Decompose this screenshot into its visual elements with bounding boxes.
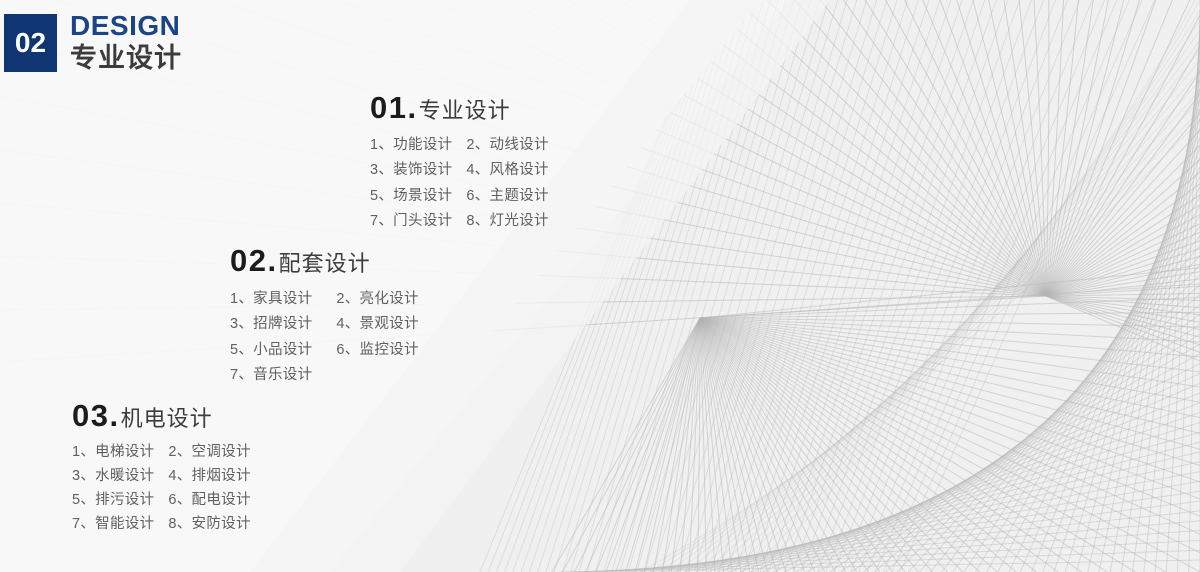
- section-number: 03.: [72, 400, 120, 431]
- list-item: 8、安防设计: [168, 517, 250, 533]
- list-item: 4、景观设计: [336, 317, 418, 333]
- section-name: 配套设计: [279, 253, 371, 275]
- list-item: 6、监控设计: [336, 343, 418, 359]
- list-item: 3、水暖设计: [72, 469, 168, 485]
- section-number: 01.: [370, 92, 418, 123]
- section-item-list: 1、家具设计 2、亮化设计 3、招牌设计 4、景观设计 5、小品设计 6、监控设…: [230, 292, 419, 384]
- list-item: [336, 368, 418, 384]
- list-item: 7、音乐设计: [230, 368, 336, 384]
- section-heading: 01. 专业设计: [370, 92, 549, 123]
- section-block-02: 02. 配套设计 1、家具设计 2、亮化设计 3、招牌设计 4、景观设计 5、小…: [230, 245, 419, 384]
- list-item: 2、亮化设计: [336, 292, 418, 308]
- page-title-en: DESIGN: [70, 11, 182, 41]
- list-item: 5、小品设计: [230, 343, 336, 359]
- section-item-list: 1、功能设计 2、动线设计 3、装饰设计 4、风格设计 5、场景设计 6、主题设…: [370, 138, 549, 230]
- section-block-01: 01. 专业设计 1、功能设计 2、动线设计 3、装饰设计 4、风格设计 5、场…: [370, 92, 549, 230]
- list-item: 1、家具设计: [230, 292, 336, 308]
- section-heading: 03. 机电设计: [72, 400, 251, 431]
- list-item: 4、风格设计: [466, 163, 548, 179]
- section-name: 机电设计: [121, 408, 213, 430]
- section-name: 专业设计: [419, 100, 511, 122]
- list-item: 6、配电设计: [168, 493, 250, 509]
- section-block-03: 03. 机电设计 1、电梯设计 2、空调设计 3、水暖设计 4、排烟设计 5、排…: [72, 400, 251, 533]
- badge-number-label: 02: [15, 29, 46, 57]
- list-item: 7、门头设计: [370, 214, 466, 230]
- page-title-cn: 专业设计: [70, 44, 182, 73]
- header-title-group: DESIGN 专业设计: [70, 11, 182, 73]
- list-item: 7、智能设计: [72, 517, 168, 533]
- list-item: 1、功能设计: [370, 138, 466, 154]
- list-item: 3、招牌设计: [230, 317, 336, 333]
- slide-header: 02 DESIGN 专业设计: [0, 0, 182, 73]
- section-number: 02.: [230, 245, 278, 276]
- list-item: 4、排烟设计: [168, 469, 250, 485]
- section-number-badge: 02: [4, 14, 57, 72]
- list-item: 2、空调设计: [168, 445, 250, 461]
- slide-canvas: 02 DESIGN 专业设计 01. 专业设计 1、功能设计 2、动线设计 3、…: [0, 0, 1200, 572]
- section-heading: 02. 配套设计: [230, 245, 419, 276]
- list-item: 3、装饰设计: [370, 163, 466, 179]
- list-item: 1、电梯设计: [72, 445, 168, 461]
- list-item: 8、灯光设计: [466, 214, 548, 230]
- list-item: 2、动线设计: [466, 138, 548, 154]
- list-item: 5、排污设计: [72, 493, 168, 509]
- list-item: 5、场景设计: [370, 189, 466, 205]
- section-item-list: 1、电梯设计 2、空调设计 3、水暖设计 4、排烟设计 5、排污设计 6、配电设…: [72, 445, 251, 533]
- list-item: 6、主题设计: [466, 189, 548, 205]
